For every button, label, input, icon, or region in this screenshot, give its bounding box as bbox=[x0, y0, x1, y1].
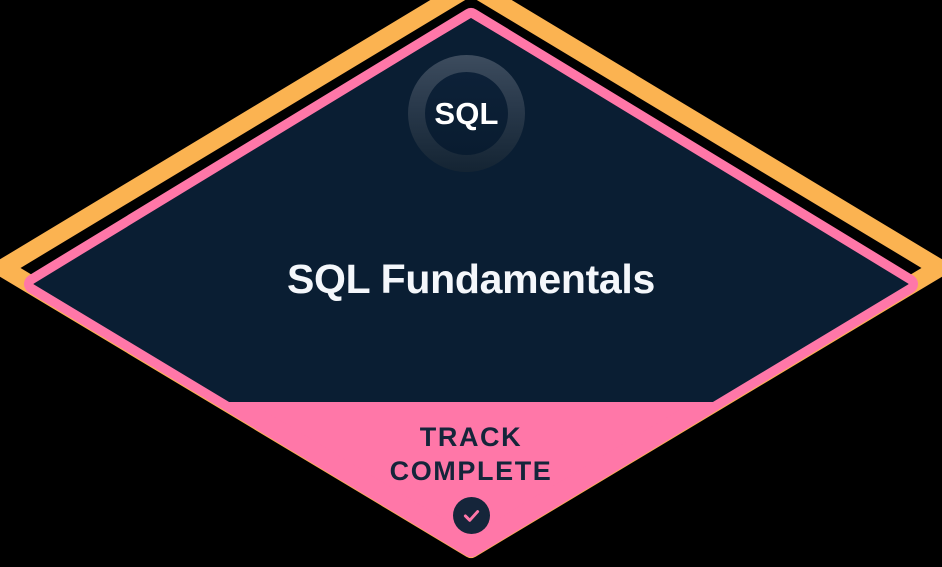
track-title: SQL Fundamentals bbox=[0, 256, 942, 303]
status-line-secondary: COMPLETE bbox=[0, 454, 942, 488]
sql-icon: SQL bbox=[408, 55, 525, 172]
sql-icon-label: SQL bbox=[434, 98, 498, 129]
track-badge-card: SQL SQL Fundamentals TRACK COMPLETE bbox=[0, 0, 942, 567]
track-status-block: TRACK COMPLETE bbox=[0, 420, 942, 534]
sql-icon-inner-disc: SQL bbox=[425, 72, 508, 155]
check-icon bbox=[453, 497, 490, 534]
status-line-primary: TRACK bbox=[0, 420, 942, 454]
